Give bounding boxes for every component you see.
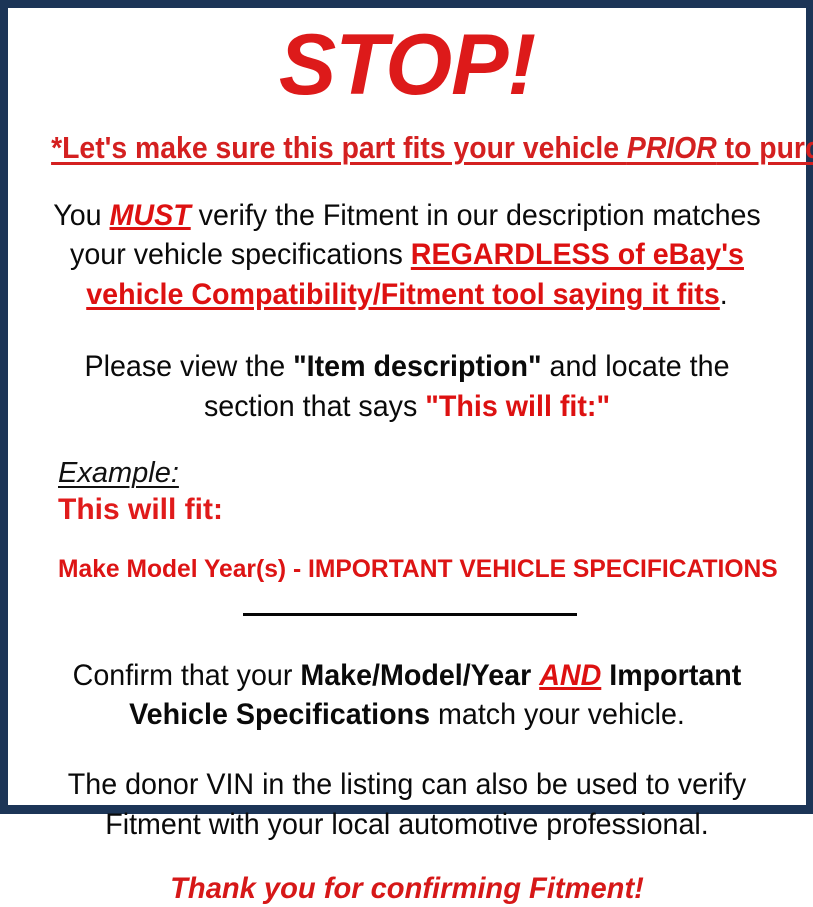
subtitle-prior-emphasis: PRIOR <box>627 130 717 165</box>
p1-seg-1: You <box>53 199 109 232</box>
subtitle-line: *Let's make sure this part fits your veh… <box>51 132 763 165</box>
p2-item-description-emphasis: "Item description" <box>293 350 541 383</box>
example-fit-heading: This will fit: <box>58 493 796 528</box>
p3-seg-5: match your vehicle. <box>430 698 685 731</box>
paragraph-view-item-description: Please view the "Item description" and l… <box>36 347 779 427</box>
p1-must-emphasis: MUST <box>110 199 191 232</box>
p2-this-will-fit-emphasis: "This will fit:" <box>425 390 610 423</box>
example-label: Example: <box>58 457 179 490</box>
example-spec-line: Make Model Year(s) - IMPORTANT VEHICLE S… <box>58 555 785 584</box>
notice-content-area: STOP! *Let's make sure this part fits yo… <box>8 22 806 819</box>
example-label-row: Example: <box>58 457 796 490</box>
stop-headline: STOP! <box>18 22 796 108</box>
subtitle-prefix: *Let's make sure this part fits your veh… <box>51 130 627 165</box>
fitment-notice-card: STOP! *Let's make sure this part fits yo… <box>0 0 813 814</box>
p1-seg-5: . <box>720 278 728 311</box>
example-block: Example: This will fit: Make Model Year(… <box>18 457 796 584</box>
subtitle-suffix: to purchasing* <box>717 130 813 165</box>
p3-make-model-year-emphasis: Make/Model/Year <box>300 659 531 692</box>
paragraph-must-verify: You MUST verify the Fitment in our descr… <box>36 196 779 316</box>
divider-row <box>18 608 796 622</box>
paragraph-donor-vin: The donor VIN in the listing can also be… <box>36 765 779 845</box>
horizontal-divider <box>243 613 577 616</box>
closing-thank-you: Thank you for confirming Fitment! <box>30 871 785 907</box>
p3-and-emphasis: AND <box>539 659 601 692</box>
p2-seg-1: Please view the <box>84 350 293 383</box>
p3-seg-1: Confirm that your <box>73 659 301 692</box>
paragraph-confirm-match: Confirm that your Make/Model/Year AND Im… <box>36 656 779 736</box>
